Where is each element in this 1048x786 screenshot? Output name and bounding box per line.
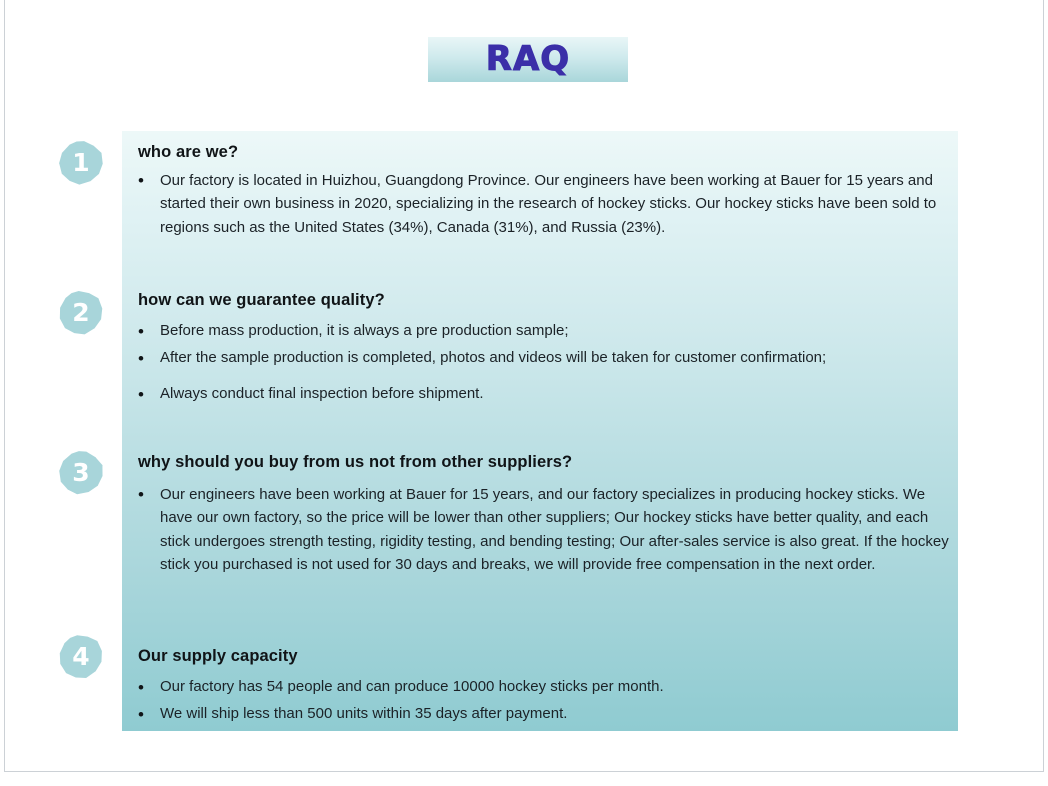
bullet-list-3: Our engineers have been working at Bauer… (122, 483, 958, 577)
step-badge-1: 1 (58, 140, 104, 186)
step-badge-number: 4 (58, 634, 104, 680)
section-heading-1: who are we? (122, 143, 958, 162)
faq-section-4: Our supply capacity Our factory has 54 p… (122, 647, 958, 725)
list-item: Before mass production, it is always a p… (122, 321, 958, 341)
list-item: After the sample production is completed… (122, 348, 958, 368)
bullet-list-4: Our factory has 54 people and can produc… (122, 677, 958, 725)
section-heading-3: why should you buy from us not from othe… (122, 453, 958, 472)
step-badge-number: 1 (58, 140, 104, 186)
step-badge-4: 4 (58, 634, 104, 680)
step-badge-3: 3 (58, 450, 104, 496)
faq-section-1: who are we? Our factory is located in Hu… (122, 143, 958, 239)
section-heading-2: how can we guarantee quality? (122, 291, 958, 310)
section-heading-4: Our supply capacity (122, 647, 958, 666)
faq-section-3: why should you buy from us not from othe… (122, 453, 958, 577)
list-item: We will ship less than 500 units within … (122, 704, 958, 724)
step-badge-2: 2 (58, 290, 104, 336)
bullet-list-1: Our factory is located in Huizhou, Guang… (122, 169, 958, 239)
list-item: Our engineers have been working at Bauer… (122, 483, 958, 577)
faq-panel: who are we? Our factory is located in Hu… (122, 131, 958, 731)
faq-section-2: how can we guarantee quality? Before mas… (122, 291, 958, 404)
bullet-list-2: Before mass production, it is always a p… (122, 321, 958, 404)
list-item: Our factory has 54 people and can produc… (122, 677, 958, 697)
list-item: Always conduct final inspection before s… (122, 384, 958, 404)
step-badge-number: 2 (58, 290, 104, 336)
step-badge-number: 3 (58, 450, 104, 496)
title-banner: RAQ (428, 37, 628, 82)
page-title: RAQ (428, 37, 628, 82)
list-item: Our factory is located in Huizhou, Guang… (122, 169, 958, 239)
